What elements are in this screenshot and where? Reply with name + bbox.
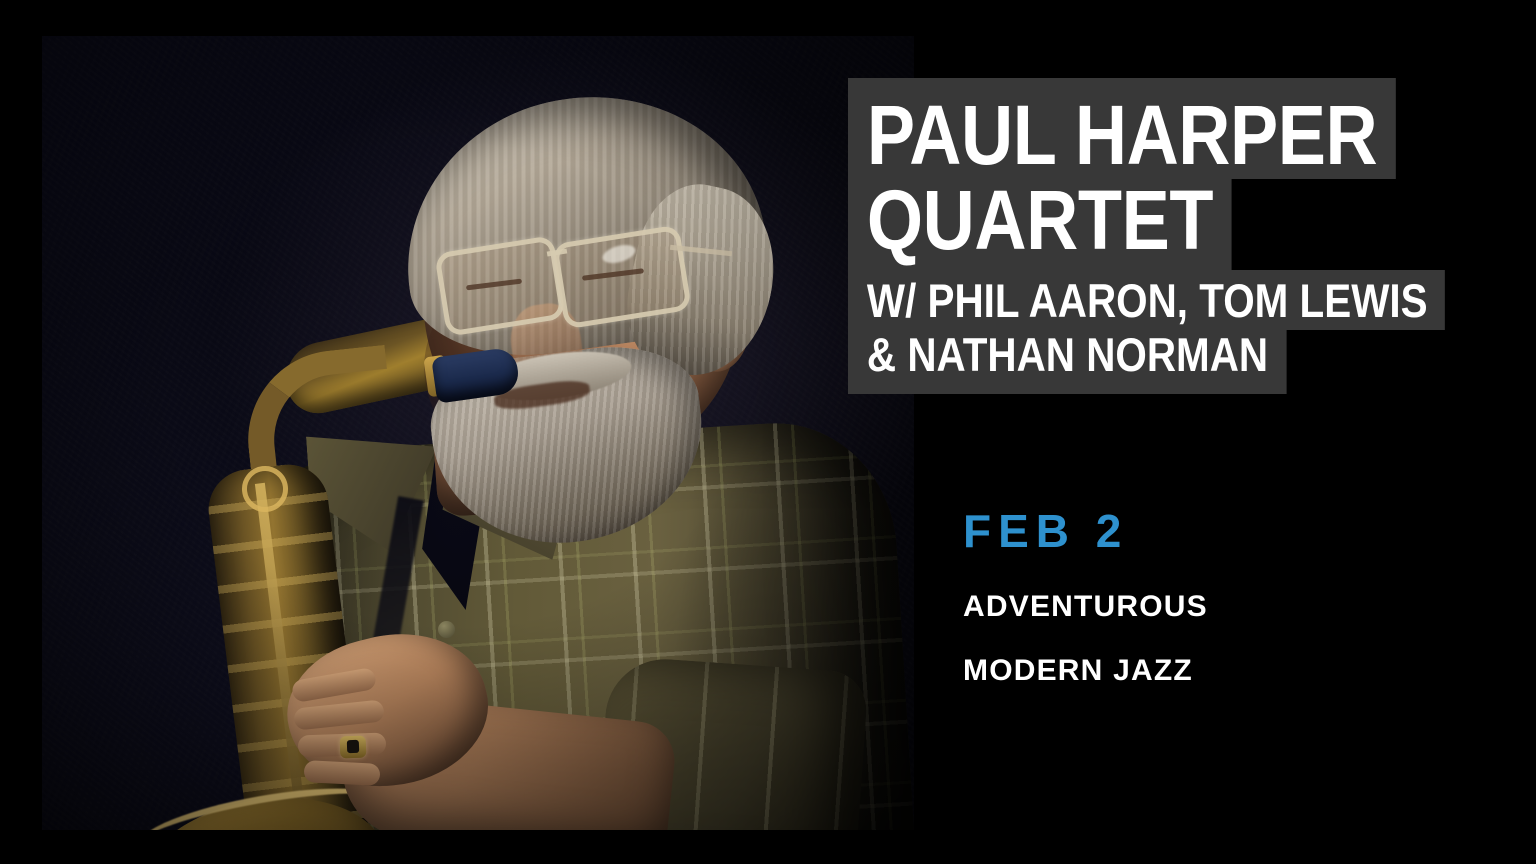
event-title-line-1: PAUL HARPER — [848, 78, 1396, 179]
event-subtitle-line-1: W/ PHIL AARON, TOM LEWIS — [848, 270, 1445, 330]
event-date: FEB 2 — [963, 508, 1208, 554]
event-meta-block: FEB 2 ADVENTUROUS MODERN JAZZ — [963, 508, 1208, 720]
performer-photo — [42, 36, 914, 830]
event-subtitle-line-2: & NATHAN NORMAN — [848, 330, 1287, 394]
ring-stone — [347, 740, 359, 753]
performer-finger — [303, 760, 380, 786]
event-genre-line-1: ADVENTUROUS — [963, 592, 1208, 622]
event-genre-line-2: MODERN JAZZ — [963, 656, 1208, 686]
shirt-button — [438, 621, 455, 638]
saxophonist-figure — [42, 36, 914, 830]
event-poster: PAUL HARPER QUARTET W/ PHIL AARON, TOM L… — [0, 0, 1536, 864]
event-title-line-2: QUARTET — [848, 179, 1232, 270]
title-block: PAUL HARPER QUARTET W/ PHIL AARON, TOM L… — [848, 78, 1488, 394]
